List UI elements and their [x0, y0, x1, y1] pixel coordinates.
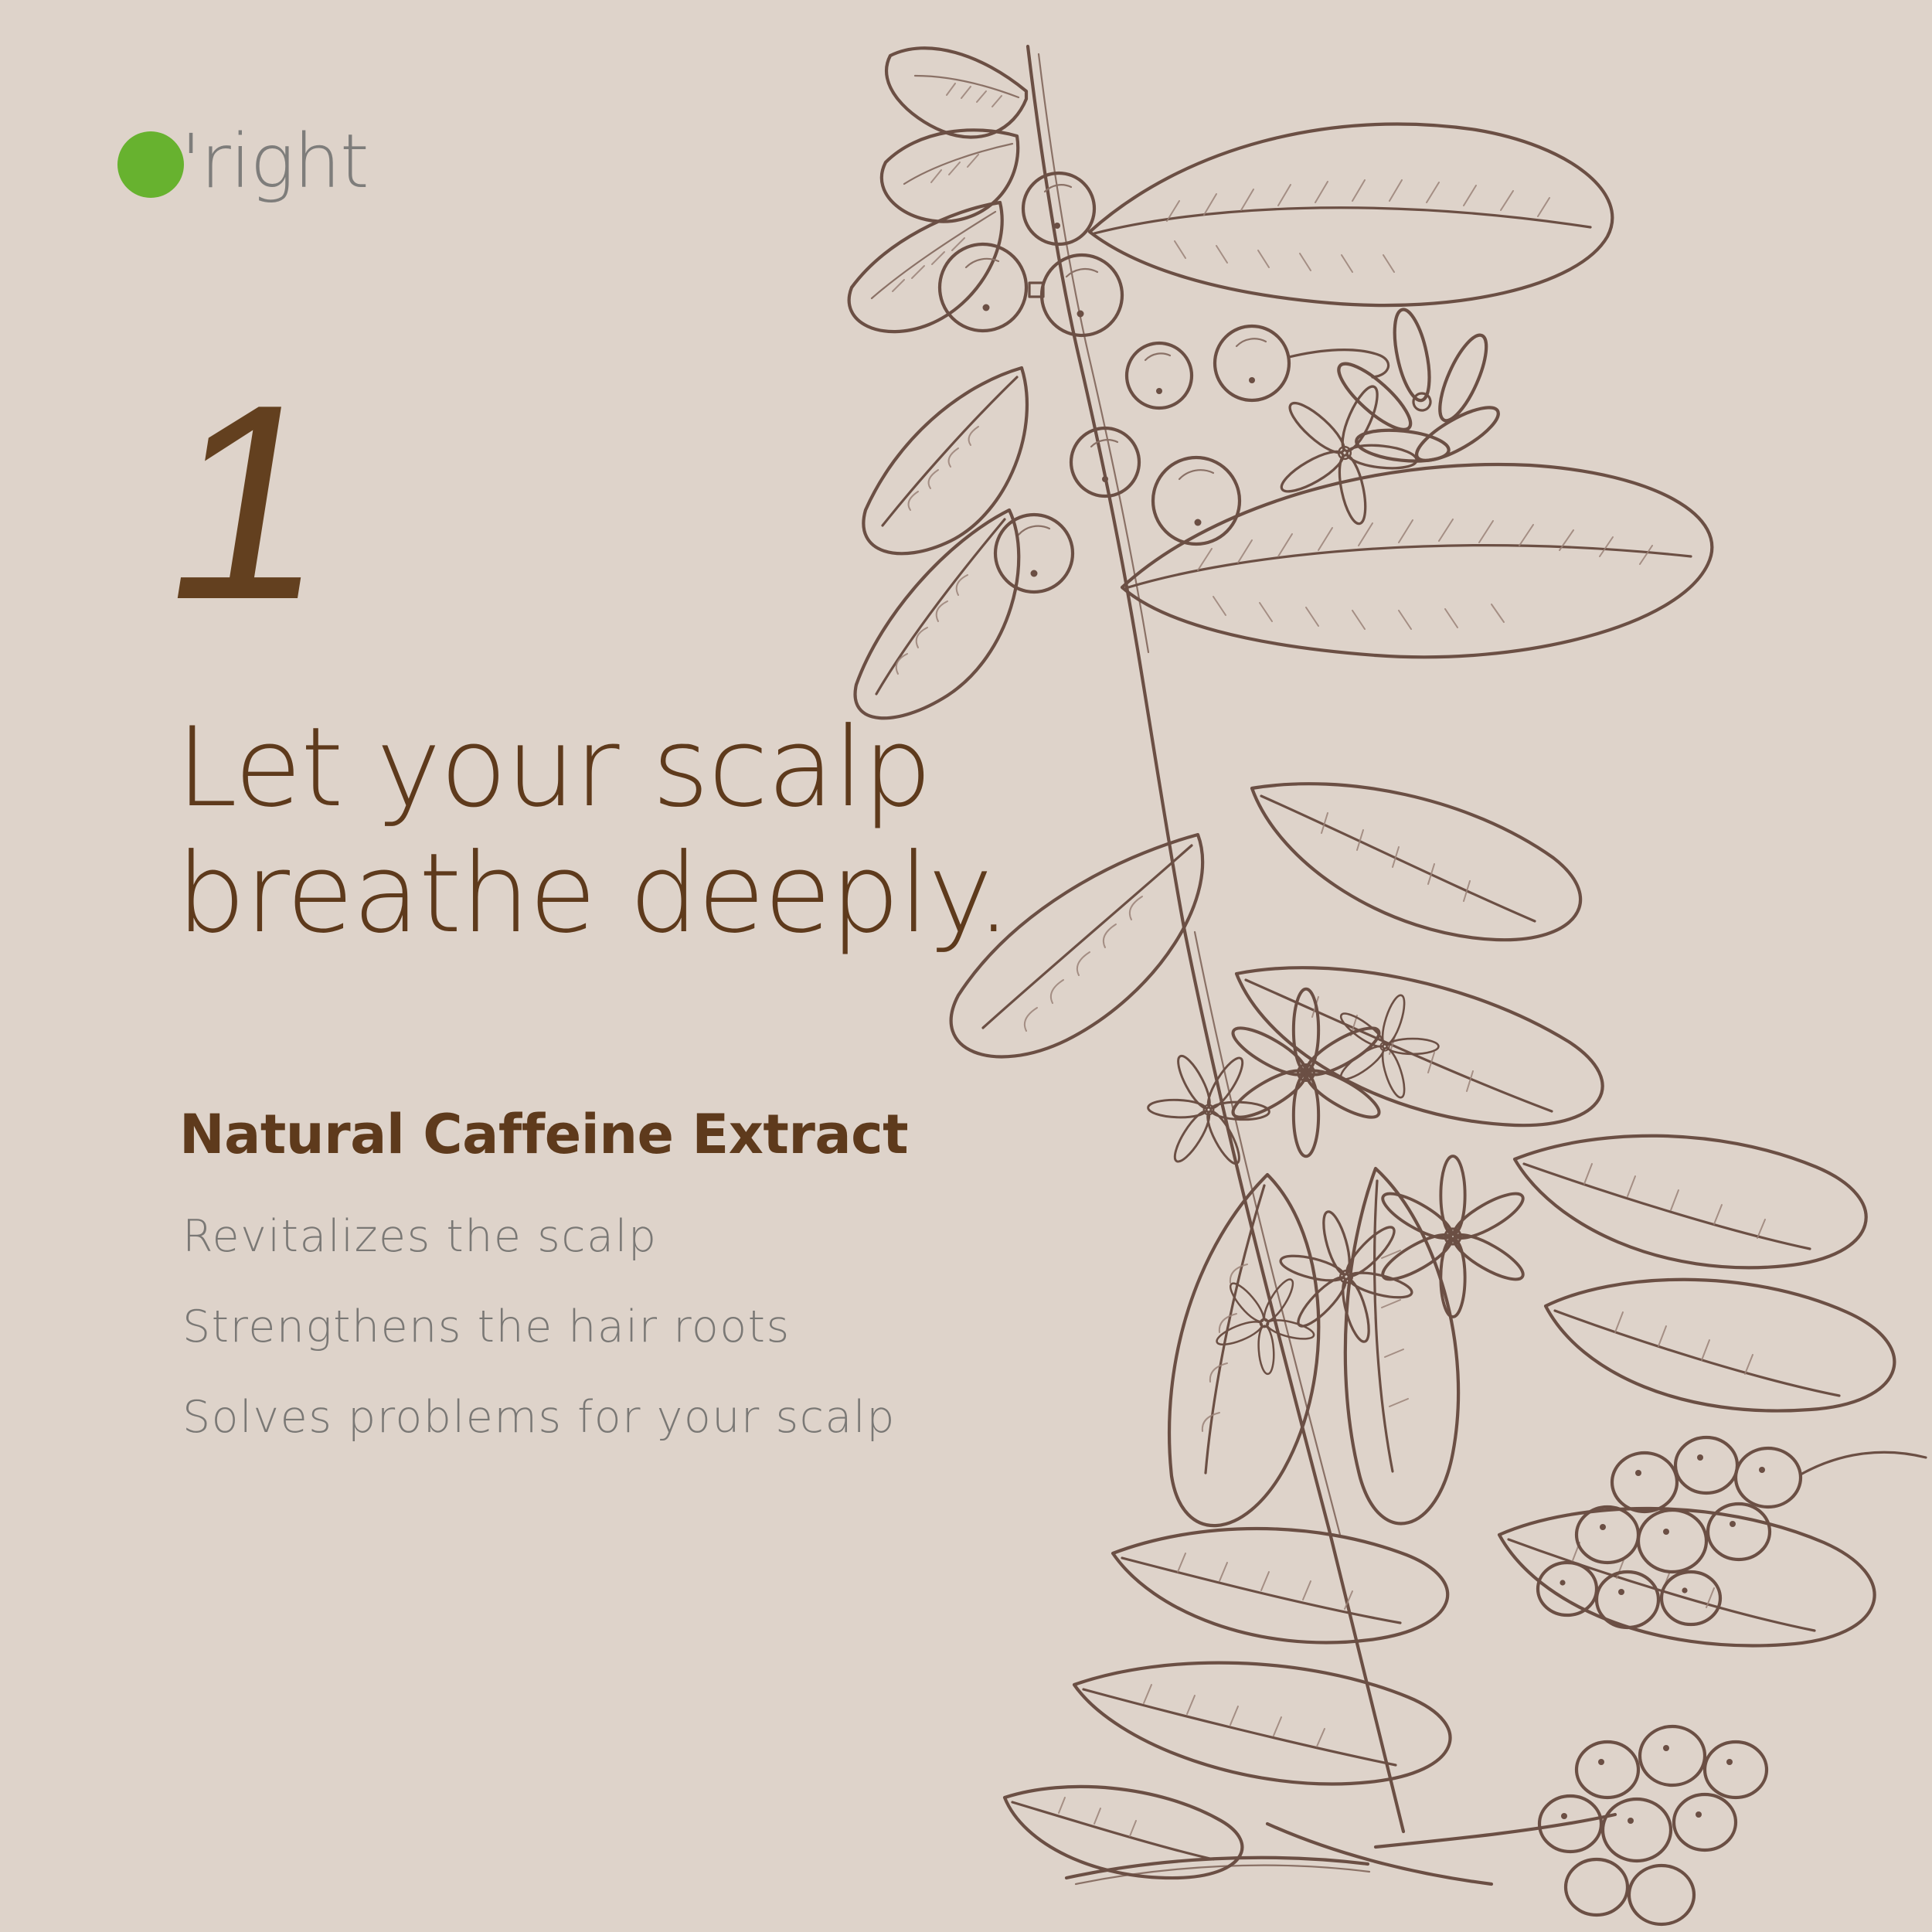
headline-line-1: Let your scalp — [176, 705, 1134, 831]
leaf-large-top-right — [1090, 124, 1612, 306]
list-item: Strengthens the hair roots — [182, 1305, 896, 1349]
brand-logo[interactable]: 'right — [117, 122, 369, 207]
branch-bottom — [1066, 1815, 1615, 1884]
benefit-list: Revitalizes the scalp Strengthens the ha… — [182, 1215, 896, 1440]
subheading: Natural Caffeine Extract — [179, 1105, 908, 1165]
step-number: 1 — [149, 363, 348, 641]
main-stem-lower — [1184, 927, 1403, 1832]
flower-cluster-lower — [1192, 1156, 1529, 1390]
coffee-plant-illustration: .ln { fill:none; stroke:#6B4F44; stroke-… — [835, 0, 1932, 1932]
berry-cluster-bottom — [1539, 1726, 1767, 1924]
list-item: Solves problems for your scalp — [182, 1396, 896, 1440]
flower-cluster-mid — [1130, 979, 1452, 1190]
leaf-large-right-second — [1122, 464, 1712, 657]
leaf-group-top-left — [849, 48, 1026, 332]
brand-name: 'right — [181, 124, 369, 199]
poster-canvas: .ln { fill:none; stroke:#6B4F44; stroke-… — [0, 0, 1932, 1932]
leaf-group-lower — [1074, 1136, 1894, 1784]
berry-cluster-top — [940, 173, 1122, 335]
leaf-group-mid-left — [855, 368, 1027, 718]
berry-cluster-lower-right — [1538, 1437, 1926, 1628]
leaf-bottom-left — [1005, 1787, 1242, 1878]
berry-cluster-mid — [995, 326, 1389, 592]
headline-line-2: breathe deeply. — [176, 831, 1134, 957]
flower-star-upper-right — [1253, 292, 1519, 542]
green-circle-icon — [117, 131, 184, 198]
page-title: Let your scalp breathe deeply. — [176, 705, 1134, 957]
list-item: Revitalizes the scalp — [182, 1215, 896, 1259]
